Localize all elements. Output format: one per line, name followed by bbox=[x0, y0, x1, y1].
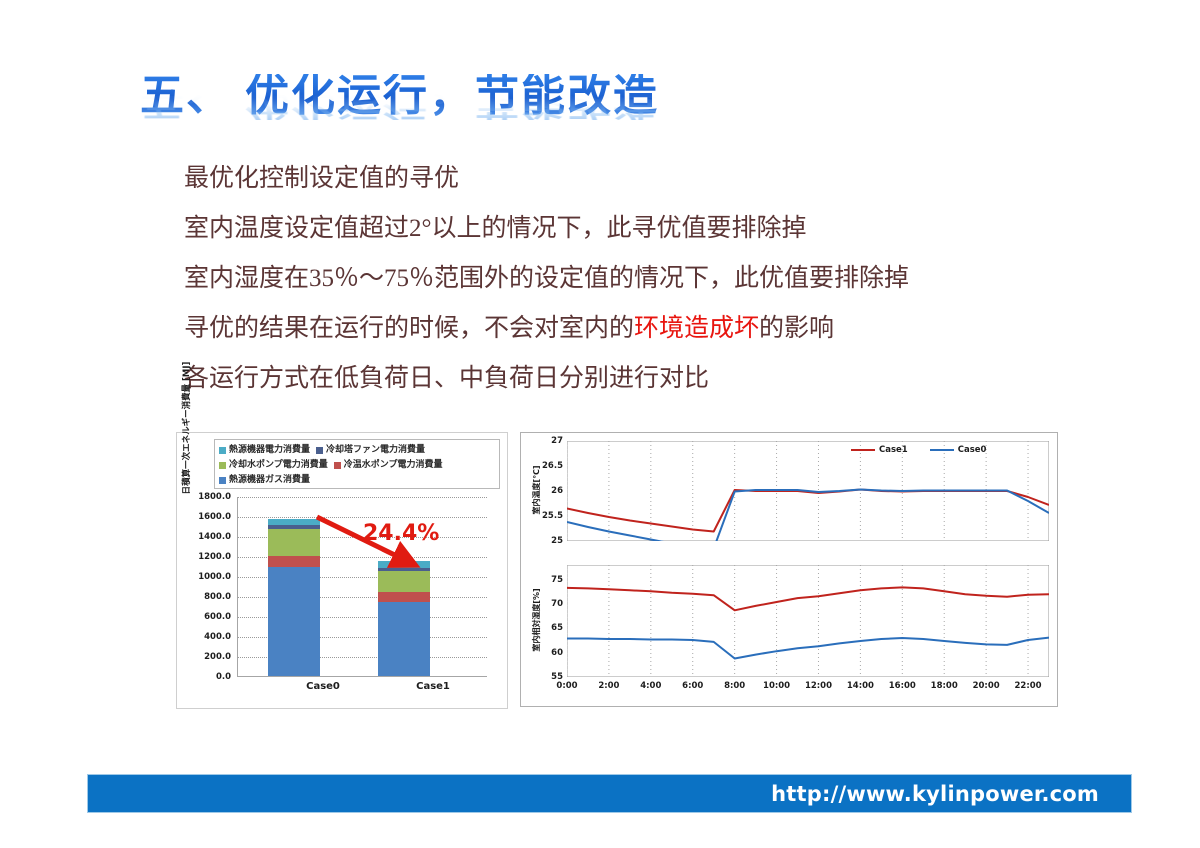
humidity-y-tick: 70 bbox=[541, 599, 563, 609]
bar-chart-y-tick: 200.0 bbox=[204, 652, 231, 662]
x-axis-tick: 20:00 bbox=[973, 681, 1000, 691]
x-axis-tick: 14:00 bbox=[847, 681, 874, 691]
legend-swatch-heat-source-gas bbox=[219, 477, 226, 484]
humidity-plot bbox=[567, 565, 1049, 677]
bar-chart-y-tick: 400.0 bbox=[204, 632, 231, 642]
legend-item-case1: Case1 bbox=[851, 445, 908, 455]
x-axis-tick: 10:00 bbox=[763, 681, 790, 691]
slide-canvas: 五、 优化运行，节能改造 五、 优化运行，节能改造 最优化控制设定值的寻优 室内… bbox=[0, 0, 1200, 848]
bar-chart-y-tick: 1800.0 bbox=[198, 492, 231, 502]
legend-item-heat-source-gas: 熱源機器ガス消費量 bbox=[219, 476, 310, 485]
bar-chart-y-tick: 1200.0 bbox=[198, 552, 231, 562]
legend-line-swatch bbox=[930, 449, 954, 451]
bar-chart-y-tick: 1600.0 bbox=[198, 512, 231, 522]
bar-chart-y-tick: 1000.0 bbox=[198, 572, 231, 582]
legend-line-swatch bbox=[851, 449, 875, 451]
temperature-y-tick: 25.5 bbox=[541, 511, 563, 521]
legend-row-2: 冷却水ポンプ電力消費量 冷温水ポンプ電力消費量 bbox=[219, 458, 497, 473]
slide-title: 五、 优化运行，节能改造 五、 优化运行，节能改造 bbox=[140, 74, 760, 154]
legend-row-1: 熱源機器電力消費量 冷却塔ファン電力消費量 bbox=[219, 443, 497, 458]
bar-chart-x-label-case0: Case0 bbox=[306, 681, 340, 692]
x-axis-tick: 4:00 bbox=[640, 681, 661, 691]
legend-item-case0: Case0 bbox=[930, 445, 987, 455]
body-line-4-post: 的影响 bbox=[759, 315, 834, 342]
temperature-panel: 室内温度[℃]2525.52626.527 bbox=[521, 441, 1057, 559]
body-line-4: 寻优的结果在运行的时候，不会对室内的环境造成坏的影响 bbox=[184, 316, 1064, 341]
bar-chart-y-tick: 600.0 bbox=[204, 612, 231, 622]
bar-segment bbox=[378, 571, 430, 592]
legend-item-cooling-tower-fan: 冷却塔ファン電力消費量 bbox=[316, 446, 425, 455]
bar-chart-x-label-case1: Case1 bbox=[416, 681, 450, 692]
temperature-y-tick: 27 bbox=[541, 436, 563, 446]
bar-chart-plot bbox=[237, 497, 487, 677]
x-axis-tick: 2:00 bbox=[598, 681, 619, 691]
body-line-2: 室内温度设定值超过2°以上的情况下，此寻优值要排除掉 bbox=[184, 216, 1064, 241]
line-chart-legend: Case1Case0 bbox=[851, 445, 1008, 455]
legend-label: Case0 bbox=[958, 445, 987, 455]
legend-row-3: 熱源機器ガス消費量 bbox=[219, 473, 497, 488]
legend-label-chilled-hot-water-pump: 冷温水ポンプ電力消費量 bbox=[344, 461, 443, 470]
reduction-percent-label: 24.4% bbox=[363, 521, 439, 546]
bar-chart-y-tick: 800.0 bbox=[204, 592, 231, 602]
legend-label: Case1 bbox=[879, 445, 908, 455]
legend-label-heat-source-gas: 熱源機器ガス消費量 bbox=[229, 476, 310, 485]
x-axis-tick: 8:00 bbox=[724, 681, 745, 691]
bar-case1[interactable] bbox=[378, 561, 430, 676]
bar-segment bbox=[268, 529, 320, 556]
legend-swatch-cooling-water-pump bbox=[219, 462, 226, 469]
legend-label-heat-source-power: 熱源機器電力消費量 bbox=[229, 446, 310, 455]
x-axis-tick: 18:00 bbox=[931, 681, 958, 691]
x-axis-tick: 0:00 bbox=[556, 681, 577, 691]
humidity-y-tick: 65 bbox=[541, 623, 563, 633]
footer-bar: http://www.kylinpower.com bbox=[88, 775, 1131, 812]
humidity-y-tick: 75 bbox=[541, 575, 563, 585]
bar-segment bbox=[378, 592, 430, 602]
bar-segment bbox=[268, 556, 320, 568]
indoor-conditions-charts: 室内温度[℃]2525.52626.527室内相対湿度[%]5560657075… bbox=[520, 432, 1058, 707]
temperature-y-tick: 26 bbox=[541, 486, 563, 496]
temperature-y-tick: 26.5 bbox=[541, 461, 563, 471]
body-line-4-highlight: 环境造成坏 bbox=[634, 315, 759, 342]
body-text-block: 最优化控制设定值的寻优 室内温度设定值超过2°以上的情况下，此寻优值要排除掉 室… bbox=[184, 166, 1064, 416]
bar-chart-legend: 熱源機器電力消費量 冷却塔ファン電力消費量 冷却水ポンプ電力消費量 冷温水ポンプ… bbox=[214, 439, 500, 489]
x-axis-tick: 22:00 bbox=[1015, 681, 1042, 691]
temperature-y-tick: 25 bbox=[541, 536, 563, 546]
x-axis-tick: 6:00 bbox=[682, 681, 703, 691]
legend-item-chilled-hot-water-pump: 冷温水ポンプ電力消費量 bbox=[334, 461, 443, 470]
legend-label-cooling-tower-fan: 冷却塔ファン電力消費量 bbox=[326, 446, 425, 455]
bar-chart-y-tick-labels: 0.0200.0400.0600.0800.01000.01200.01400.… bbox=[177, 491, 235, 683]
bar-segment bbox=[378, 561, 430, 568]
humidity-y-tick: 60 bbox=[541, 648, 563, 658]
bar-chart-gridline bbox=[238, 497, 487, 498]
bar-chart-y-axis-title: 日積算一次エネルギー消費量 [MJ] bbox=[180, 353, 192, 503]
bar-segment bbox=[268, 567, 320, 676]
footer-url[interactable]: http://www.kylinpower.com bbox=[771, 782, 1099, 806]
x-axis-tick: 12:00 bbox=[805, 681, 832, 691]
energy-bar-chart: 熱源機器電力消費量 冷却塔ファン電力消費量 冷却水ポンプ電力消費量 冷温水ポンプ… bbox=[176, 432, 508, 709]
body-line-4-pre: 寻优的结果在运行的时候，不会对室内的 bbox=[184, 315, 634, 342]
legend-item-cooling-water-pump: 冷却水ポンプ電力消費量 bbox=[219, 461, 328, 470]
bar-segment bbox=[378, 602, 430, 677]
humidity-y-axis-title: 室内相対湿度[%] bbox=[531, 585, 542, 655]
legend-swatch-cooling-tower-fan bbox=[316, 447, 323, 454]
body-line-3: 室内湿度在35％～75％范围外的设定值的情况下，此优值要排除掉 bbox=[184, 266, 1064, 291]
bar-chart-y-tick: 1400.0 bbox=[198, 532, 231, 542]
humidity-panel: 室内相対湿度[%]5560657075 bbox=[521, 565, 1057, 695]
body-line-5: 各运行方式在低負荷日、中負荷日分别进行对比 bbox=[184, 366, 1064, 391]
legend-swatch-heat-source-power bbox=[219, 447, 226, 454]
legend-item-heat-source-power: 熱源機器電力消費量 bbox=[219, 446, 310, 455]
page-title: 五、 优化运行，节能改造 bbox=[140, 74, 760, 118]
legend-label-cooling-water-pump: 冷却水ポンプ電力消費量 bbox=[229, 461, 328, 470]
legend-swatch-chilled-hot-water-pump bbox=[334, 462, 341, 469]
x-axis-tick: 16:00 bbox=[889, 681, 916, 691]
body-line-1: 最优化控制设定值的寻优 bbox=[184, 166, 1064, 191]
bar-case0[interactable] bbox=[268, 519, 320, 677]
bar-chart-y-tick: 0.0 bbox=[216, 672, 231, 682]
temperature-plot bbox=[567, 441, 1049, 541]
